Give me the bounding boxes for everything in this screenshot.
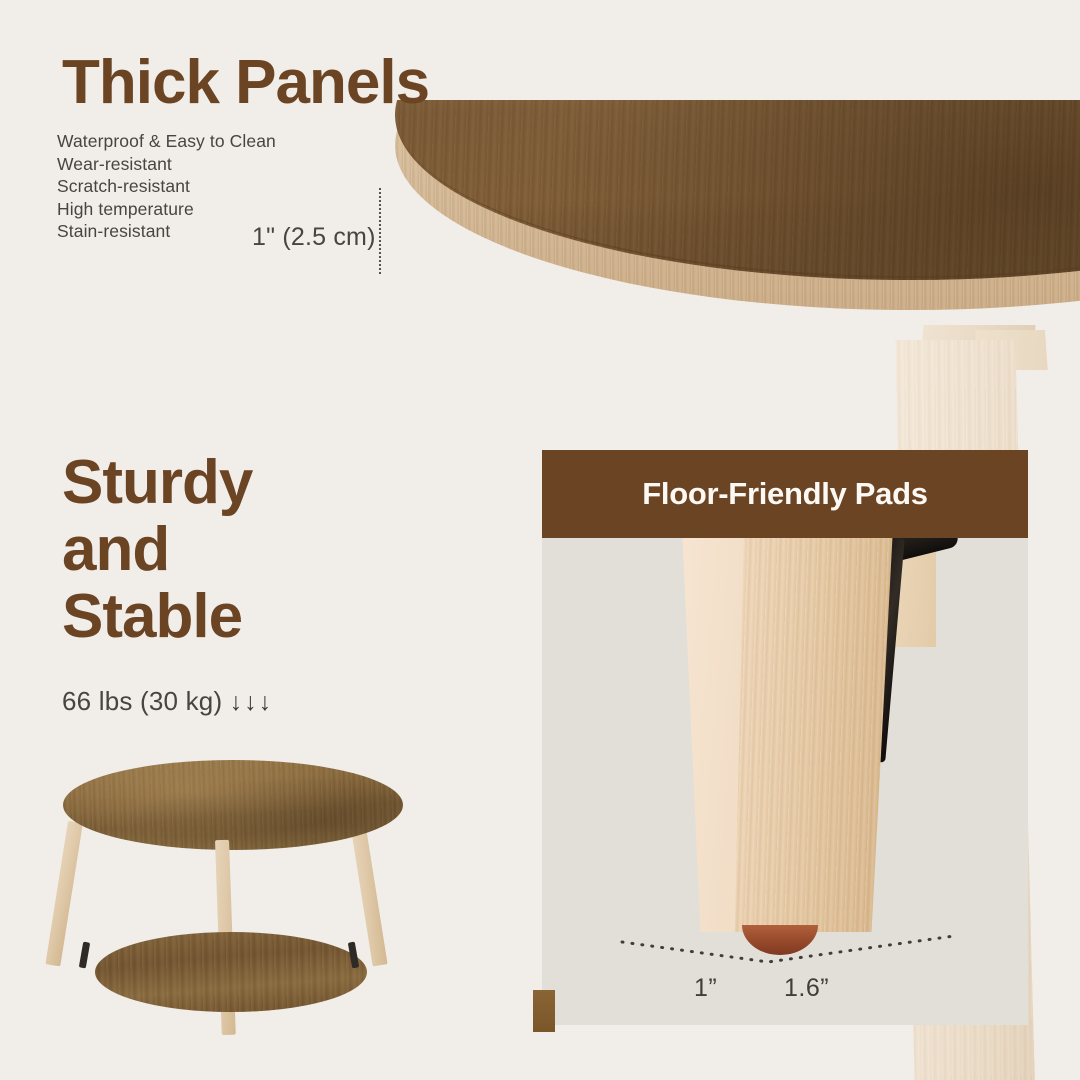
dimension-label-width: 1” [694, 974, 717, 1003]
closeup-table-leg-edge [678, 537, 744, 932]
feature-item: High temperature [57, 198, 276, 221]
dimension-label-depth: 1.6” [784, 974, 829, 1003]
feature-item: Waterproof & Easy to Clean [57, 130, 276, 153]
weight-capacity-line: 66 lbs (30 kg) ↓↓↓ [62, 686, 273, 717]
table-top-surface [395, 100, 1080, 280]
feature-item: Wear-resistant [57, 153, 276, 176]
section-title-sturdy-and-stable: Sturdy and Stable [62, 450, 252, 651]
coffee-table-shelf-surface [95, 932, 367, 1012]
coffee-table-top-surface [63, 760, 403, 850]
thickness-measurement-label: 1" (2.5 cm) [252, 223, 376, 252]
thickness-dotted-leader-line [379, 188, 381, 274]
load-arrows-icon: ↓↓↓ [230, 688, 274, 716]
shelf-bracket-left [79, 942, 90, 969]
feature-item: Stain-resistant [57, 220, 276, 243]
coffee-table-leg-right [350, 821, 387, 967]
floor-pads-inset-panel: 1” 1.6” [542, 537, 1028, 1025]
floor-friendly-pads-banner-label: Floor-Friendly Pads [642, 476, 927, 512]
infographic-canvas: Thick Panels Waterproof & Easy to Clean … [0, 0, 1080, 1080]
weight-capacity-value: 66 lbs (30 kg) [62, 686, 222, 716]
coffee-table-product-photo [48, 752, 448, 1064]
feature-item: Scratch-resistant [57, 175, 276, 198]
feature-list: Waterproof & Easy to Clean Wear-resistan… [57, 130, 276, 243]
floor-friendly-pads-banner: Floor-Friendly Pads [542, 450, 1028, 538]
table-top-product-photo [380, 100, 1080, 370]
page-title-thick-panels: Thick Panels [62, 52, 429, 114]
dimension-dotted-curve [618, 932, 958, 972]
coffee-table-leg-left [45, 821, 82, 967]
bottom-wood-accent [533, 990, 555, 1032]
